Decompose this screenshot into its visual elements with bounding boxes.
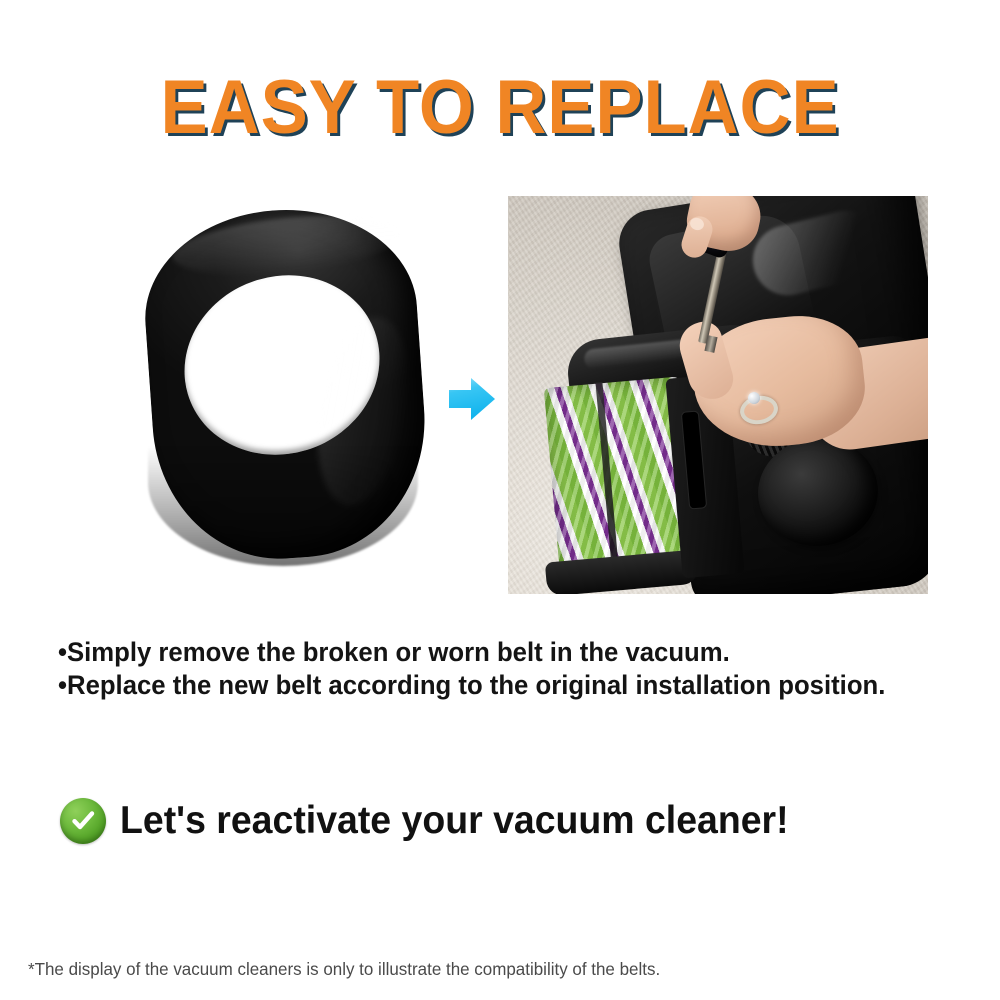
vacuum-installation-photo bbox=[508, 196, 928, 594]
title-banner: EASY TO REPLACE bbox=[0, 70, 1000, 146]
instruction-list: •Simply remove the broken or worn belt i… bbox=[58, 636, 958, 702]
cta-text: Let's reactivate your vacuum cleaner! bbox=[120, 800, 789, 842]
right-arrow-icon bbox=[447, 376, 497, 422]
footnote-disclaimer: *The display of the vacuum cleaners is o… bbox=[28, 958, 660, 980]
list-item: •Simply remove the broken or worn belt i… bbox=[58, 636, 931, 669]
belt-front-shading bbox=[148, 446, 418, 566]
check-circle-icon bbox=[60, 798, 106, 844]
list-item: •Replace the new belt according to the o… bbox=[58, 669, 931, 702]
infographic-page: EASY TO REPLACE bbox=[0, 0, 1000, 1000]
vacuum-belt-photo bbox=[132, 196, 432, 596]
cta-line: Let's reactivate your vacuum cleaner! bbox=[60, 798, 816, 844]
page-title: EASY TO REPLACE bbox=[160, 70, 839, 146]
